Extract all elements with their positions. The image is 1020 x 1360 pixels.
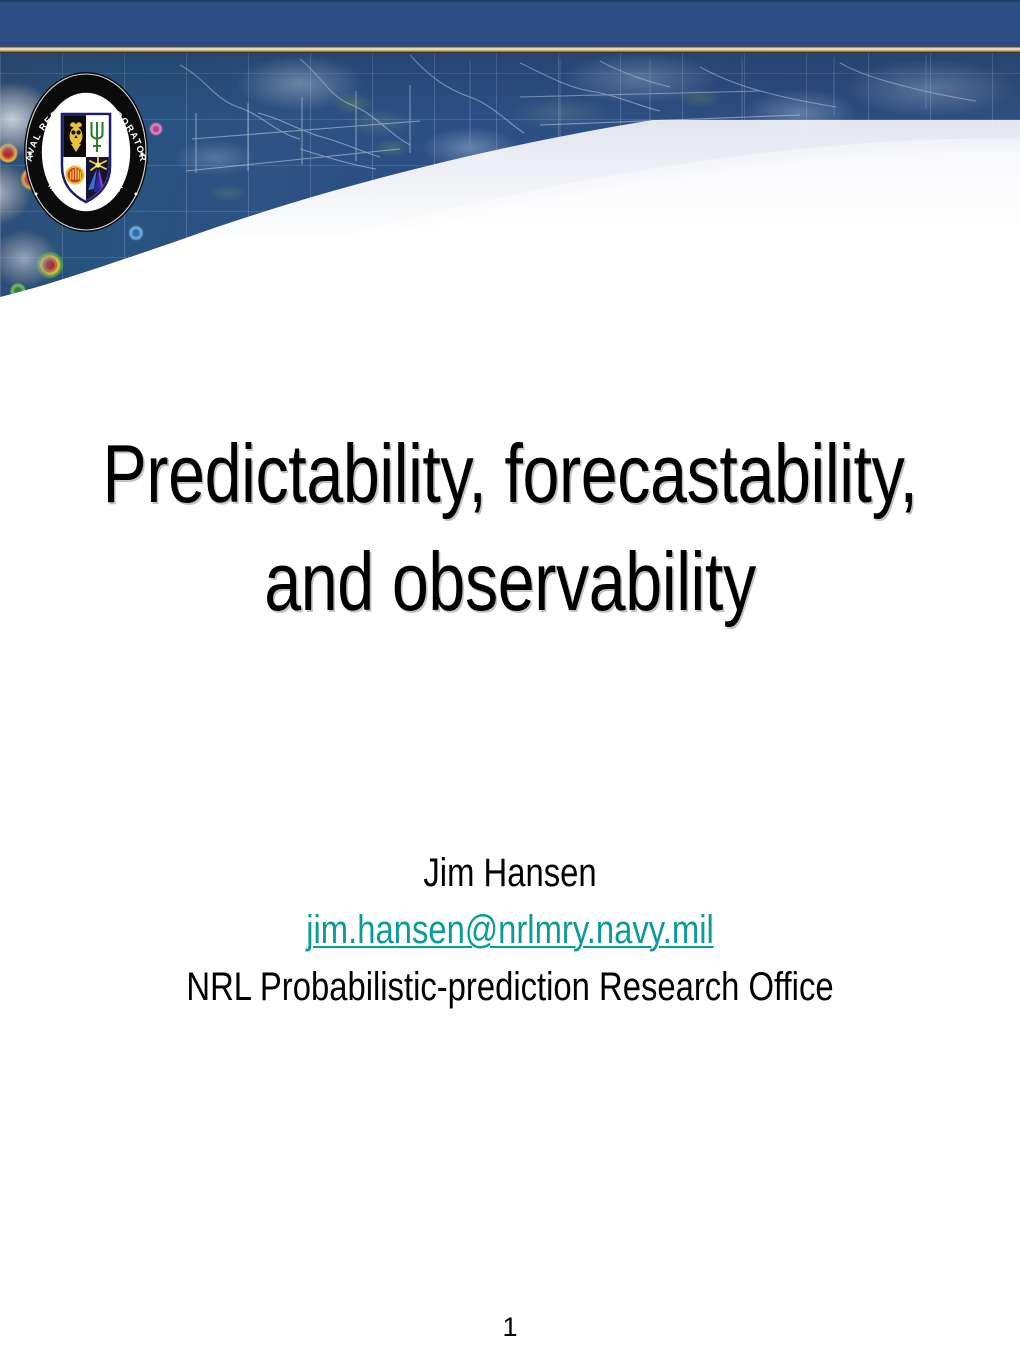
nrl-seal-logo: NAVAL RESEARCH LABORATORY MONTEREY, CA — [18, 62, 154, 242]
gold-divider-rule — [0, 46, 1020, 53]
page-title: Predictability, forecastability, and obs… — [102, 420, 918, 636]
author-name: Jim Hansen — [92, 845, 928, 902]
author-email-link[interactable]: jim.hansen@nrlmry.navy.mil — [306, 902, 714, 959]
author-block: Jim Hansen jim.hansen@nrlmry.navy.mil NR… — [0, 845, 1020, 1017]
author-email-line: jim.hansen@nrlmry.navy.mil — [92, 902, 928, 959]
title-block: Predictability, forecastability, and obs… — [0, 420, 1020, 636]
slide-canvas: NAVAL RESEARCH LABORATORY MONTEREY, CA — [0, 0, 1020, 1360]
navy-top-band — [0, 0, 1020, 46]
page-number: 1 — [0, 1312, 1020, 1343]
author-affiliation: NRL Probabilistic-prediction Research Of… — [92, 959, 928, 1016]
header-banner: NAVAL RESEARCH LABORATORY MONTEREY, CA — [0, 0, 1020, 350]
roundel-charge — [65, 165, 84, 184]
